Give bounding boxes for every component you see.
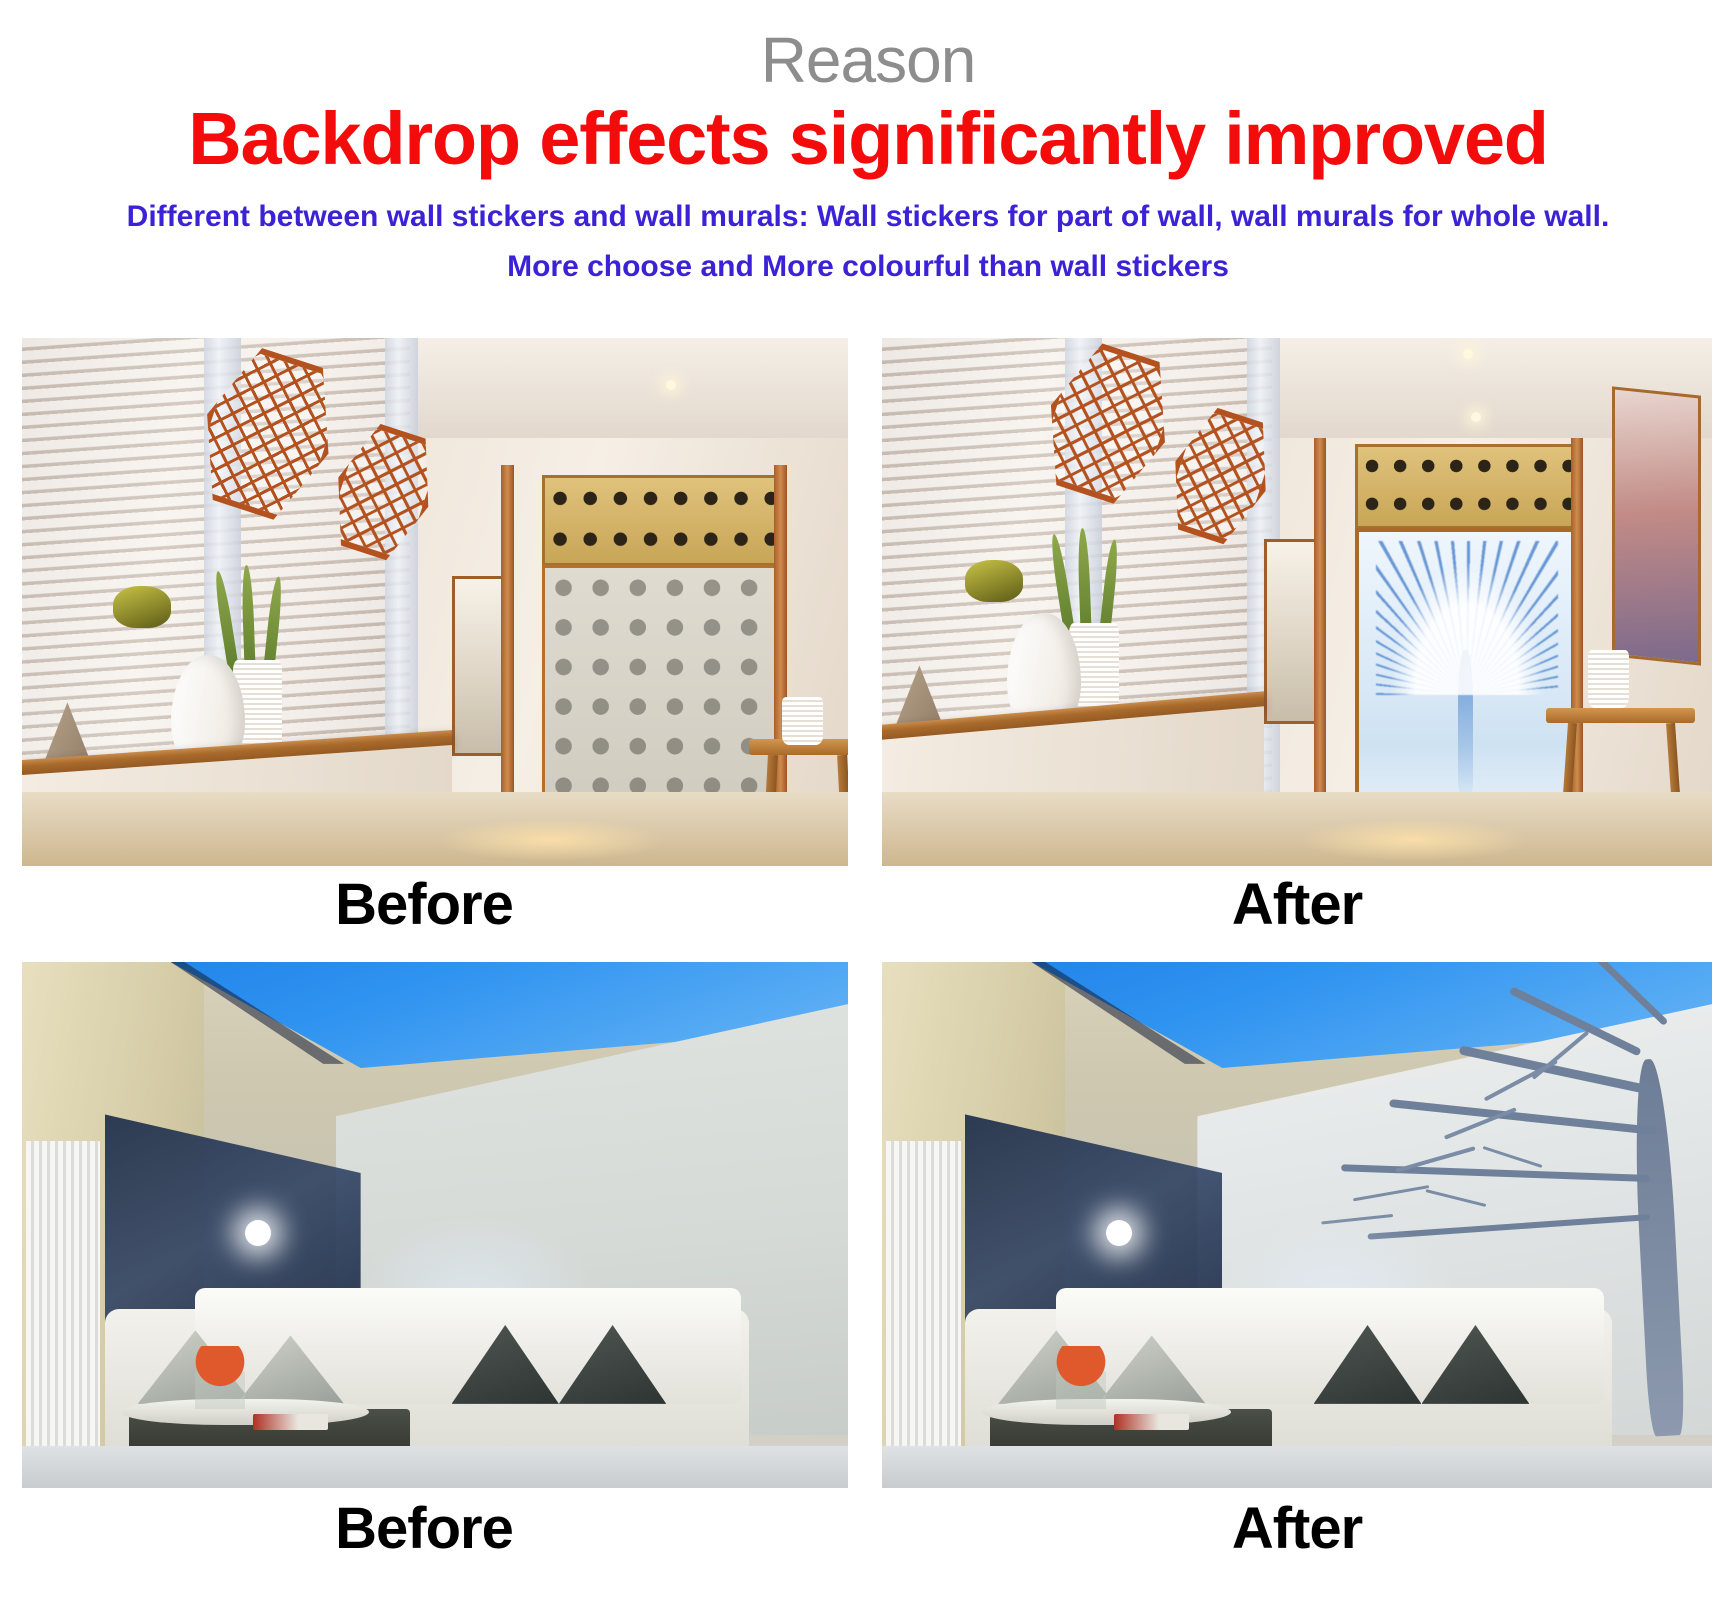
tree-branch-3 [1342, 1164, 1651, 1182]
hall-mural-trunk [1458, 650, 1473, 792]
livingroom-after-scene [882, 962, 1712, 1488]
tree-branch-6 [1589, 962, 1668, 1026]
livingroom-after-photo [882, 962, 1712, 1488]
livingroom-before-scene [22, 962, 848, 1488]
hall-ceiling-light-1 [1463, 349, 1473, 359]
hall-table-vase [782, 697, 823, 745]
hall-side-table-top [1546, 708, 1695, 724]
tree-twig-7 [1483, 1146, 1543, 1168]
loft-floor [22, 1446, 848, 1488]
loft-table-top [121, 1399, 369, 1425]
loft-radiator [26, 1141, 100, 1467]
tree-trunk [1630, 1058, 1686, 1437]
hall-lattice-screen [542, 475, 779, 565]
hall-window [1264, 539, 1320, 725]
tree-twig-4 [1353, 1185, 1430, 1201]
loft-table-top [982, 1399, 1231, 1425]
hall-ceiling [352, 338, 848, 438]
loft-downlight [1106, 1220, 1132, 1246]
loft-floor [882, 1446, 1712, 1488]
loft-flower-vase [1056, 1346, 1106, 1409]
caption-hallway-before: Before [0, 876, 848, 934]
tree-branch-5 [1509, 986, 1642, 1056]
hall-floor-glow [1297, 819, 1529, 861]
subtitle-line-1: Different between wall stickers and wall… [0, 198, 1736, 236]
hall-lattice-screen [1355, 444, 1577, 529]
hall-wall-lamp [965, 560, 1023, 602]
hall-floor-glow [435, 819, 666, 861]
tree-branch-2 [1389, 1099, 1656, 1135]
page-title: Backdrop effects significantly improved [0, 100, 1736, 178]
livingroom-before-photo [22, 962, 848, 1488]
loft-book [253, 1414, 327, 1430]
tree-twig-8 [1425, 1189, 1486, 1207]
hall-wall-lamp [113, 586, 171, 628]
hall-tree-mural [1355, 528, 1579, 832]
loft-flower-vase [195, 1346, 245, 1409]
caption-livingroom-after: After [882, 1500, 1712, 1558]
hall-table-vase [1588, 650, 1630, 708]
loft-radiator [886, 1141, 961, 1467]
hallway-before-scene [22, 338, 848, 866]
subtitle-line-2: More choose and More colourful than wall… [0, 248, 1736, 286]
caption-livingroom-before: Before [0, 1500, 848, 1558]
caption-hallway-after: After [882, 876, 1712, 934]
hall-wall-art [1612, 386, 1701, 665]
loft-downlight [245, 1220, 271, 1246]
loft-book [1114, 1414, 1189, 1430]
hallway-after-photo [882, 338, 1712, 866]
hallway-after-scene [882, 338, 1712, 866]
header-block: Reason Backdrop effects significantly im… [0, 0, 1736, 300]
eyebrow-title: Reason [0, 28, 1736, 92]
hall-door-frame-left [501, 465, 514, 835]
hallway-before-photo [22, 338, 848, 866]
hall-door-frame-left [1314, 438, 1326, 834]
